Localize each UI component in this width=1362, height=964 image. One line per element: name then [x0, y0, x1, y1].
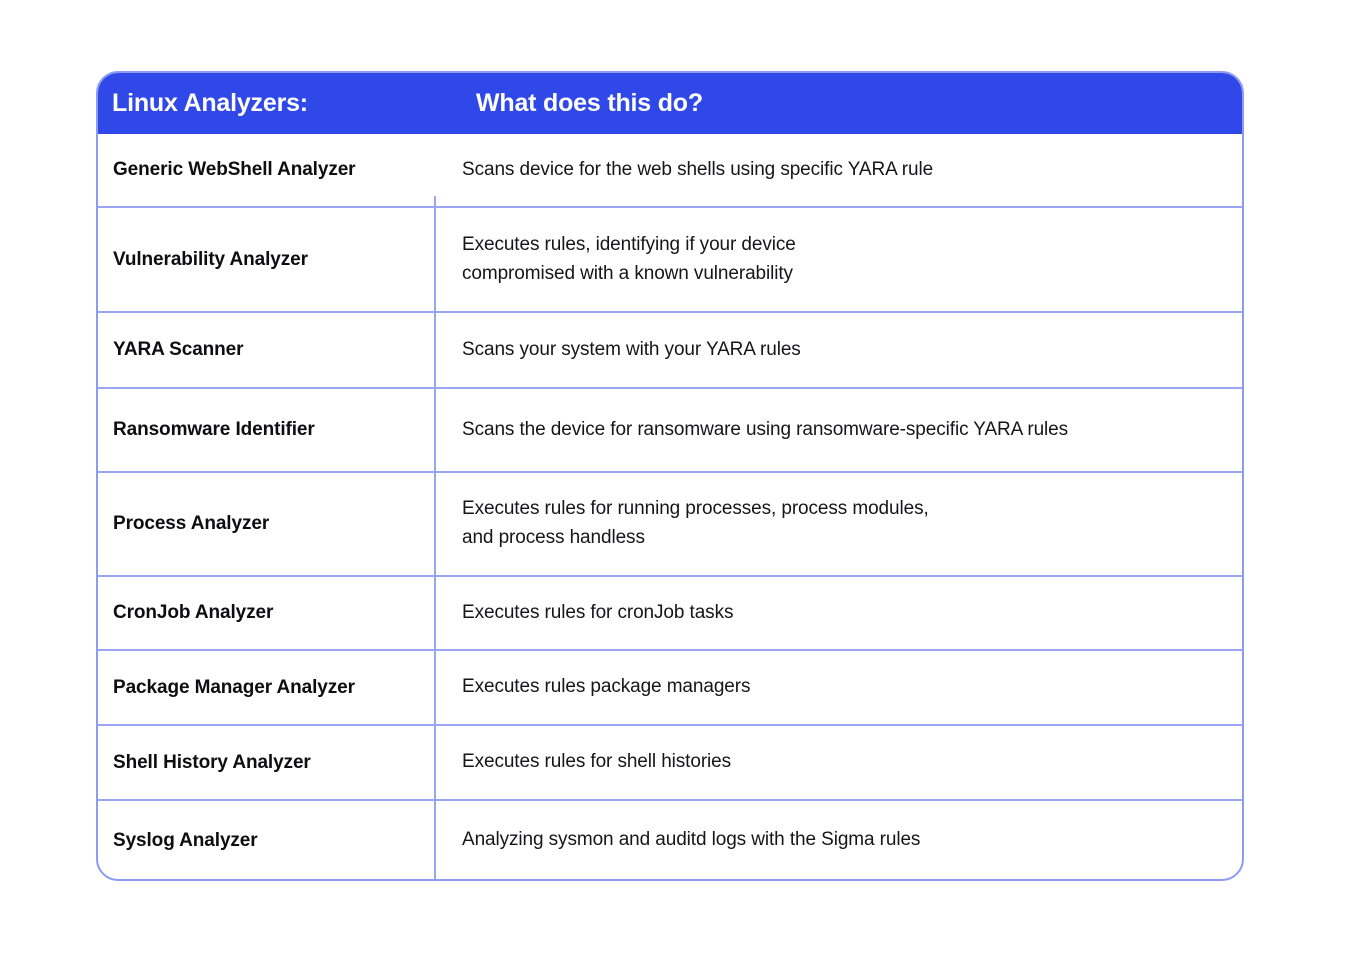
analyzer-name: Package Manager Analyzer — [98, 675, 435, 701]
analyzer-description: Executes rules for running processes, pr… — [435, 495, 1242, 553]
table-row: Vulnerability Analyzer Executes rules, i… — [98, 208, 1242, 313]
description-line: Executes rules package managers — [462, 673, 1224, 702]
table-row: YARA Scanner Scans your system with your… — [98, 313, 1242, 389]
description-line: compromised with a known vulnerability — [462, 260, 1224, 289]
description-line: Analyzing sysmon and auditd logs with th… — [462, 826, 1224, 855]
table-row: Process Analyzer Executes rules for runn… — [98, 473, 1242, 577]
description-line: Scans the device for ransomware using ra… — [462, 416, 1224, 445]
analyzer-description: Analyzing sysmon and auditd logs with th… — [435, 826, 1242, 855]
analyzer-name: CronJob Analyzer — [98, 600, 435, 626]
analyzer-name: Vulnerability Analyzer — [98, 247, 435, 273]
table-row: Shell History Analyzer Executes rules fo… — [98, 726, 1242, 801]
table-row: Syslog Analyzer Analyzing sysmon and aud… — [98, 801, 1242, 880]
analyzer-description: Scans device for the web shells using sp… — [435, 156, 1242, 185]
description-line: Executes rules, identifying if your devi… — [462, 231, 1224, 260]
analyzer-description: Scans the device for ransomware using ra… — [435, 416, 1242, 445]
table-row: Ransomware Identifier Scans the device f… — [98, 389, 1242, 473]
analyzer-description: Scans your system with your YARA rules — [435, 336, 1242, 365]
description-line: Executes rules for running processes, pr… — [462, 495, 1224, 524]
description-line: Scans device for the web shells using sp… — [462, 156, 1224, 185]
description-line: Scans your system with your YARA rules — [462, 336, 1224, 365]
analyzer-name: YARA Scanner — [98, 337, 435, 363]
analyzer-name: Ransomware Identifier — [98, 417, 435, 443]
analyzer-name: Process Analyzer — [98, 511, 435, 537]
analyzer-description: Executes rules for shell histories — [435, 748, 1242, 777]
table-body: Generic WebShell Analyzer Scans device f… — [98, 134, 1242, 880]
analyzers-table-card: Linux Analyzers: What does this do? Gene… — [96, 71, 1244, 881]
table-header-row: Linux Analyzers: What does this do? — [97, 72, 1243, 134]
description-line: Executes rules for cronJob tasks — [462, 599, 1224, 628]
analyzer-name: Shell History Analyzer — [98, 750, 435, 776]
page-root: Linux Analyzers: What does this do? Gene… — [0, 0, 1362, 964]
analyzer-description: Executes rules for cronJob tasks — [435, 599, 1242, 628]
analyzer-name: Generic WebShell Analyzer — [98, 157, 435, 183]
description-line: Executes rules for shell histories — [462, 748, 1224, 777]
analyzer-description: Executes rules package managers — [435, 673, 1242, 702]
table-row: CronJob Analyzer Executes rules for cron… — [98, 577, 1242, 651]
column-header-analyzer-name: Linux Analyzers: — [97, 91, 449, 116]
analyzer-description: Executes rules, identifying if your devi… — [435, 231, 1242, 289]
analyzer-name: Syslog Analyzer — [98, 828, 435, 854]
description-line: and process handless — [462, 524, 1224, 553]
table-row: Package Manager Analyzer Executes rules … — [98, 651, 1242, 726]
table-row: Generic WebShell Analyzer Scans device f… — [98, 134, 1242, 208]
column-header-description: What does this do? — [449, 91, 1243, 116]
